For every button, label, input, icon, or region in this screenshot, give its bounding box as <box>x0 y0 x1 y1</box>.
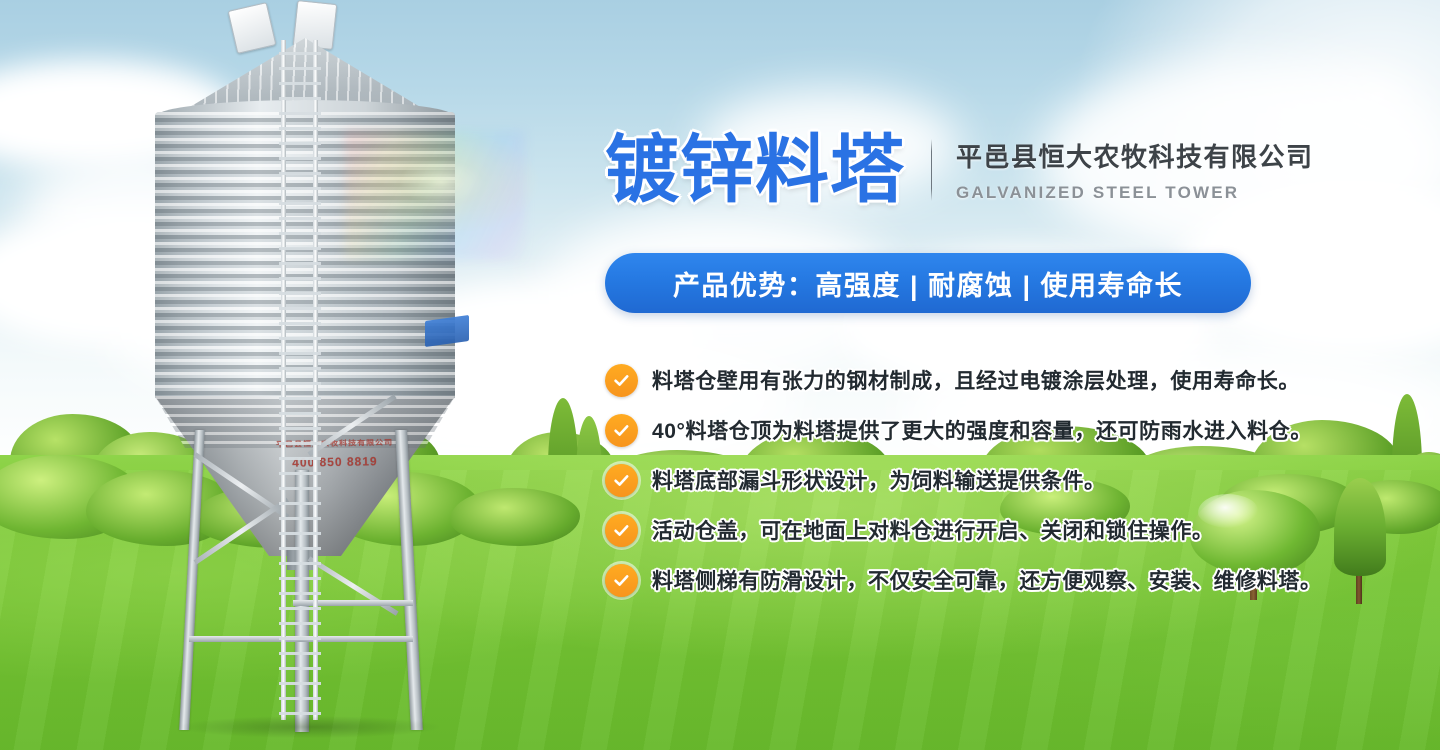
feature-text: 料塔仓壁用有张力的钢材制成，且经过电镀涂层处理，使用寿命长。 <box>652 365 1300 395</box>
banner-content: 镀锌料塔 平邑县恒大农牧科技有限公司 GALVANIZED STEEL TOWE… <box>0 0 1440 750</box>
hero-banner: 平邑县恒大农牧科技有限公司 400 850 8819 镀锌料塔 <box>0 0 1440 750</box>
feature-item: 活动仓盖，可在地面上对料仓进行开启、关闭和锁住操作。 <box>605 505 1395 555</box>
advantage-banner: 产品优势：高强度 | 耐腐蚀 | 使用寿命长 <box>605 253 1251 313</box>
check-circle-icon <box>605 364 638 397</box>
feature-list: 料塔仓壁用有张力的钢材制成，且经过电镀涂层处理，使用寿命长。 40°料塔仓顶为料… <box>605 355 1395 605</box>
check-circle-icon <box>605 564 638 597</box>
feature-item: 料塔侧梯有防滑设计，不仅安全可靠，还方便观察、安装、维修料塔。 <box>605 555 1395 605</box>
feature-item: 料塔底部漏斗形状设计，为饲料输送提供条件。 <box>605 455 1395 505</box>
headline-row: 镀锌料塔 平邑县恒大农牧科技有限公司 GALVANIZED STEEL TOWE… <box>605 124 1314 216</box>
feature-text: 活动仓盖，可在地面上对料仓进行开启、关闭和锁住操作。 <box>652 515 1214 545</box>
advantage-banner-text: 产品优势：高强度 | 耐腐蚀 | 使用寿命长 <box>673 264 1183 303</box>
check-circle-icon <box>605 514 638 547</box>
page-title: 镀锌料塔 <box>605 128 905 212</box>
feature-text: 料塔底部漏斗形状设计，为饲料输送提供条件。 <box>652 465 1106 495</box>
feature-text: 料塔侧梯有防滑设计，不仅安全可靠，还方便观察、安装、维修料塔。 <box>652 565 1322 595</box>
feature-item: 料塔仓壁用有张力的钢材制成，且经过电镀涂层处理，使用寿命长。 <box>605 355 1395 405</box>
title-divider <box>931 139 932 201</box>
check-circle-icon <box>605 464 638 497</box>
company-name-en: GALVANIZED STEEL TOWER <box>956 183 1314 203</box>
feature-item: 40°料塔仓顶为料塔提供了更大的强度和容量，还可防雨水进入料仓。 <box>605 405 1395 455</box>
feature-text: 40°料塔仓顶为料塔提供了更大的强度和容量，还可防雨水进入料仓。 <box>652 415 1312 445</box>
company-block: 平邑县恒大农牧科技有限公司 GALVANIZED STEEL TOWER <box>956 137 1314 203</box>
company-name-cn: 平邑县恒大农牧科技有限公司 <box>956 137 1314 174</box>
check-circle-icon <box>605 414 638 447</box>
